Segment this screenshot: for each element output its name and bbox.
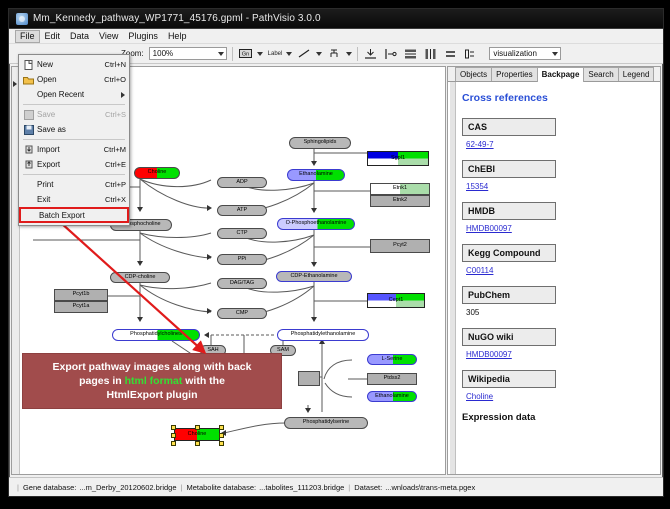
handle-e[interactable]: [219, 433, 224, 438]
xref-source-cas: CAS: [462, 118, 556, 136]
status-dataset-value: ...wnloads\trans-meta.pgex: [385, 483, 475, 492]
node-label: CMP: [236, 311, 248, 317]
node-ppi[interactable]: PPi: [217, 254, 267, 265]
node-label: Sgpl1: [391, 156, 405, 162]
side-panel-tabs: Objects Properties Backpage Search Legen…: [448, 67, 660, 82]
file-menu-popup[interactable]: New Ctrl+N Open Ctrl+O Open Recent: [18, 54, 130, 226]
xref-source-kegg: Kegg Compound: [462, 244, 556, 262]
file-menu-item-import[interactable]: Import Ctrl+M: [19, 142, 129, 157]
file-menu-item-print[interactable]: Print Ctrl+P: [19, 177, 129, 192]
node-label: DAG/TAG: [230, 281, 254, 287]
side-scrollbar[interactable]: [450, 82, 456, 474]
toolbar-separator-2: [357, 47, 358, 61]
node-label: L-Serine: [382, 357, 403, 363]
callout-line-1: Export pathway images along with back: [53, 360, 252, 374]
node-ctp[interactable]: CTP: [217, 228, 267, 239]
zoom-value: 100%: [153, 49, 173, 58]
handle-s[interactable]: [195, 441, 200, 446]
chevron-right-icon: [121, 92, 125, 98]
handle-n[interactable]: [195, 425, 200, 430]
node-etnk1[interactable]: Etnk1: [370, 183, 430, 195]
screenshot-root: Mm_Kennedy_pathway_WP1771_45176.gpml - P…: [0, 0, 670, 509]
node-atp[interactable]: ATP: [217, 205, 267, 216]
file-menu-label: Export: [35, 160, 105, 169]
xref-value-wikipedia[interactable]: Choline: [466, 392, 650, 401]
arrow-choline-to-phosphocholine: [137, 207, 143, 212]
arrow-pemt: [204, 332, 209, 338]
chevron-down-icon-2: [552, 52, 558, 56]
file-menu-label: Exit: [35, 195, 105, 204]
distribute-horizontal-icon[interactable]: [423, 46, 438, 61]
file-menu-accel: Ctrl+E: [105, 160, 126, 169]
tab-legend[interactable]: Legend: [618, 67, 655, 81]
export-icon: [22, 159, 35, 170]
file-menu-label: Open: [35, 75, 104, 84]
node-label: CDP-choline: [125, 275, 156, 281]
file-menu-item-open-recent[interactable]: Open Recent: [19, 87, 129, 102]
node-ptdss2[interactable]: Ptdss2: [367, 373, 417, 385]
node-dag-tag[interactable]: DAG/TAG: [217, 278, 267, 289]
tab-backpage[interactable]: Backpage: [537, 67, 585, 82]
xref-source-nugo: NuGO wiki: [462, 328, 556, 346]
handle-w[interactable]: [171, 433, 176, 438]
status-gene-db-value: ...m_Derby_20120602.bridge: [79, 483, 176, 492]
node-label: PPi: [238, 257, 247, 263]
file-menu-label: Save: [35, 110, 105, 119]
node-label: ADP: [236, 180, 247, 186]
arrow-cdpethn-to-ptdethn: [311, 317, 317, 322]
title-bar: Mm_Kennedy_pathway_WP1771_45176.gpml - P…: [9, 9, 663, 29]
line-tool-icon[interactable]: [297, 46, 312, 61]
callout-line-2b: with the: [182, 375, 225, 387]
callout-line-2a: pages in: [79, 375, 125, 387]
node-l-serine[interactable]: L-Serine: [367, 354, 417, 365]
expression-data-heading: Expression data: [462, 412, 650, 423]
file-menu-label: New: [35, 60, 105, 69]
file-menu-accel: Ctrl+P: [105, 180, 126, 189]
node-phosphatidylcholines[interactable]: Phosphatidylcholines: [112, 329, 200, 341]
handle-se[interactable]: [219, 441, 224, 446]
xref-value-hmdb[interactable]: HMDB00097: [466, 224, 650, 233]
file-menu-item-export[interactable]: Export Ctrl+E: [19, 157, 129, 172]
node-label: Ethanolamine: [299, 172, 333, 178]
interaction-dropdown-icon[interactable]: [346, 52, 352, 56]
node-sgpl1[interactable]: Sgpl1: [367, 151, 429, 166]
node-label: Pcyt1b: [73, 292, 90, 298]
blank-icon-4: [24, 210, 37, 221]
node-label: Etnk1: [393, 186, 407, 192]
file-menu-item-exit[interactable]: Exit Ctrl+X: [19, 192, 129, 207]
blank-icon: [22, 89, 35, 100]
arrow-phosphocholine-to-cdpcholine: [137, 261, 143, 266]
status-sep-0: |: [17, 483, 19, 492]
interaction-tool-icon[interactable]: [327, 46, 342, 61]
node-hidden-gene[interactable]: [298, 371, 320, 386]
xref-value-cas[interactable]: 62-49-7: [466, 140, 650, 149]
node-label: Choline: [188, 432, 207, 438]
node-choline-top[interactable]: Choline: [134, 167, 180, 179]
status-gene-db-label: Gene database:: [23, 483, 76, 492]
datanode-dropdown-icon[interactable]: [257, 52, 263, 56]
save-as-icon: [22, 124, 35, 135]
node-label: ATP: [237, 208, 247, 214]
menu-data[interactable]: Data: [65, 30, 94, 43]
align-left-icon[interactable]: [383, 46, 398, 61]
datanode-tool-icon[interactable]: Gn: [238, 46, 253, 61]
status-metabolite-db-value: ...tabolites_111203.bridge: [259, 483, 344, 492]
node-label: Pcyt1a: [73, 304, 90, 310]
node-label: O-Phosphoethanolamine: [286, 221, 347, 227]
align-top-icon[interactable]: [363, 46, 378, 61]
stack-icon[interactable]: [463, 46, 478, 61]
arrow-cdpcholine-to-ptdcho: [137, 317, 143, 322]
arrow-sphingo-to-etn: [311, 161, 317, 166]
node-o-phosphoethanolamine[interactable]: O-Phosphoethanolamine: [277, 218, 355, 230]
menu-bar: File Edit Data View Plugins Help: [9, 29, 663, 44]
xref-source-wikipedia: Wikipedia: [462, 370, 556, 388]
callout-annotation: Export pathway images along with back pa…: [22, 353, 282, 409]
file-menu-item-save-as[interactable]: Save as: [19, 122, 129, 137]
node-label: Choline: [148, 170, 167, 176]
size-equal-icon[interactable]: [443, 46, 458, 61]
file-menu-separator-1: [23, 104, 125, 105]
xref-source-hmdb: HMDB: [462, 202, 556, 220]
xref-source-chebi: ChEBI: [462, 160, 556, 178]
arrow-to-ppi: [207, 254, 212, 260]
cross-references-heading: Cross references: [462, 92, 650, 104]
visualization-value: visualization: [493, 49, 537, 58]
chevron-down-icon: [218, 52, 224, 56]
node-sphingolipids[interactable]: Sphingolipids: [289, 137, 351, 149]
file-menu-accel: Ctrl+O: [104, 75, 126, 84]
toolbar-separator: [232, 47, 233, 61]
xref-value-kegg[interactable]: C00114: [466, 266, 650, 275]
node-label: Sphingolipids: [304, 140, 337, 146]
node-cmp[interactable]: CMP: [217, 308, 267, 319]
pathvisio-icon: [16, 13, 28, 25]
file-menu-accel: Ctrl+N: [105, 60, 126, 69]
file-menu-separator-2: [23, 139, 125, 140]
file-menu-label: Batch Export: [37, 211, 124, 220]
node-label: Ptdss2: [384, 376, 401, 382]
node-label: Cept1: [389, 298, 404, 304]
node-label: Pcyt2: [393, 243, 407, 249]
backpage-content[interactable]: Cross references CAS 62-49-7 ChEBI 15354…: [448, 82, 660, 474]
arrow-to-atp: [207, 205, 212, 211]
node-ethanolamine-bottom[interactable]: Ethanolamine: [367, 391, 417, 402]
file-menu-item-open[interactable]: Open Ctrl+O: [19, 72, 129, 87]
zoom-combobox[interactable]: 100%: [149, 47, 227, 60]
node-label: Phosphatidylserine: [303, 420, 349, 426]
file-menu-label: Save as: [35, 125, 126, 134]
node-label: Phosphatidylcholines: [130, 332, 182, 338]
file-menu-label: Open Recent: [35, 90, 126, 99]
node-label: CDP-Ethanolamine: [290, 274, 337, 280]
file-menu-label: Import: [35, 145, 104, 154]
node-label: Phosphatidylethanolamine: [291, 332, 356, 338]
open-folder-icon: [22, 74, 35, 85]
svg-text:Gn: Gn: [242, 52, 249, 58]
node-label: Etnk2: [393, 198, 407, 204]
file-menu-item-batch-export[interactable]: Batch Export: [19, 207, 129, 223]
node-adp[interactable]: ADP: [217, 177, 267, 188]
xref-source-pubchem: PubChem: [462, 286, 556, 304]
blank-icon-2: [22, 179, 35, 190]
file-menu-accel: Ctrl+M: [104, 145, 126, 154]
node-pcyt1b[interactable]: Pcyt1b: [54, 289, 108, 301]
menu-edit[interactable]: Edit: [40, 30, 66, 43]
callout-line-2: pages in html format with the: [79, 374, 225, 388]
tab-properties[interactable]: Properties: [491, 67, 537, 81]
node-cept1[interactable]: Cept1: [367, 293, 425, 308]
node-ethanolamine-top[interactable]: Ethanolamine: [287, 169, 345, 181]
pathvisio-window: Mm_Kennedy_pathway_WP1771_45176.gpml - P…: [8, 8, 664, 497]
status-dataset-label: Dataset:: [354, 483, 382, 492]
file-menu-accel: Ctrl+X: [105, 195, 126, 204]
menu-view[interactable]: View: [94, 30, 123, 43]
status-metabolite-db-label: Metabolite database:: [186, 483, 256, 492]
file-menu-item-save: Save Ctrl+S: [19, 107, 129, 122]
handle-nw[interactable]: [171, 425, 176, 430]
tab-objects[interactable]: Objects: [455, 67, 492, 81]
file-menu-separator-3: [23, 174, 125, 175]
arrow-to-cmp: [207, 308, 212, 314]
node-cdp-choline[interactable]: CDP-choline: [110, 272, 170, 283]
file-menu-accel: Ctrl+S: [105, 110, 126, 119]
xref-value-nugo[interactable]: HMDB00097: [466, 350, 650, 359]
menu-help[interactable]: Help: [163, 30, 192, 43]
node-pcyt1a[interactable]: Pcyt1a: [54, 301, 108, 313]
arrow-pethn-to-cdpethn: [311, 262, 317, 267]
arrow-to-ptdser: [305, 408, 311, 413]
node-cdp-ethanolamine[interactable]: CDP-Ethanolamine: [276, 271, 352, 282]
xref-value-chebi[interactable]: 15354: [466, 182, 650, 191]
xref-value-pubchem: 305: [466, 308, 650, 317]
callout-html-format: html format: [125, 375, 183, 387]
node-label: CTP: [237, 231, 248, 237]
callout-line-3: HtmlExport plugin: [107, 388, 198, 402]
node-phosphatidylserine[interactable]: Phosphatidylserine: [284, 417, 368, 429]
import-icon: [22, 144, 35, 155]
tab-search[interactable]: Search: [583, 67, 618, 81]
handle-sw[interactable]: [171, 441, 176, 446]
distribute-vertical-icon[interactable]: [403, 46, 418, 61]
node-phosphatidylethanolamine[interactable]: Phosphatidylethanolamine: [277, 329, 369, 341]
side-panel: Objects Properties Backpage Search Legen…: [447, 66, 661, 475]
line-dropdown-icon[interactable]: [316, 52, 322, 56]
file-menu-item-new[interactable]: New Ctrl+N: [19, 57, 129, 72]
visualization-combobox[interactable]: visualization: [489, 47, 561, 60]
window-title: Mm_Kennedy_pathway_WP1771_45176.gpml - P…: [33, 13, 321, 24]
menu-file[interactable]: File: [15, 30, 40, 43]
new-file-icon: [22, 59, 35, 70]
node-etnk2[interactable]: Etnk2: [370, 195, 430, 207]
file-menu-label: Print: [35, 180, 105, 189]
blank-icon-3: [22, 194, 35, 205]
status-sep-2: |: [348, 483, 350, 492]
arrow-etn-to-pethn: [311, 208, 317, 213]
menu-plugins[interactable]: Plugins: [123, 30, 163, 43]
label-tool-label[interactable]: Label: [268, 51, 283, 57]
label-dropdown-icon[interactable]: [286, 52, 292, 56]
handle-ne[interactable]: [219, 425, 224, 430]
status-sep-1: |: [181, 483, 183, 492]
node-label: Ethanolamine: [375, 394, 409, 400]
status-bar: | Gene database: ...m_Derby_20120602.bri…: [9, 477, 663, 496]
save-icon: [22, 109, 35, 120]
node-pcyt2[interactable]: Pcyt2: [370, 239, 430, 253]
